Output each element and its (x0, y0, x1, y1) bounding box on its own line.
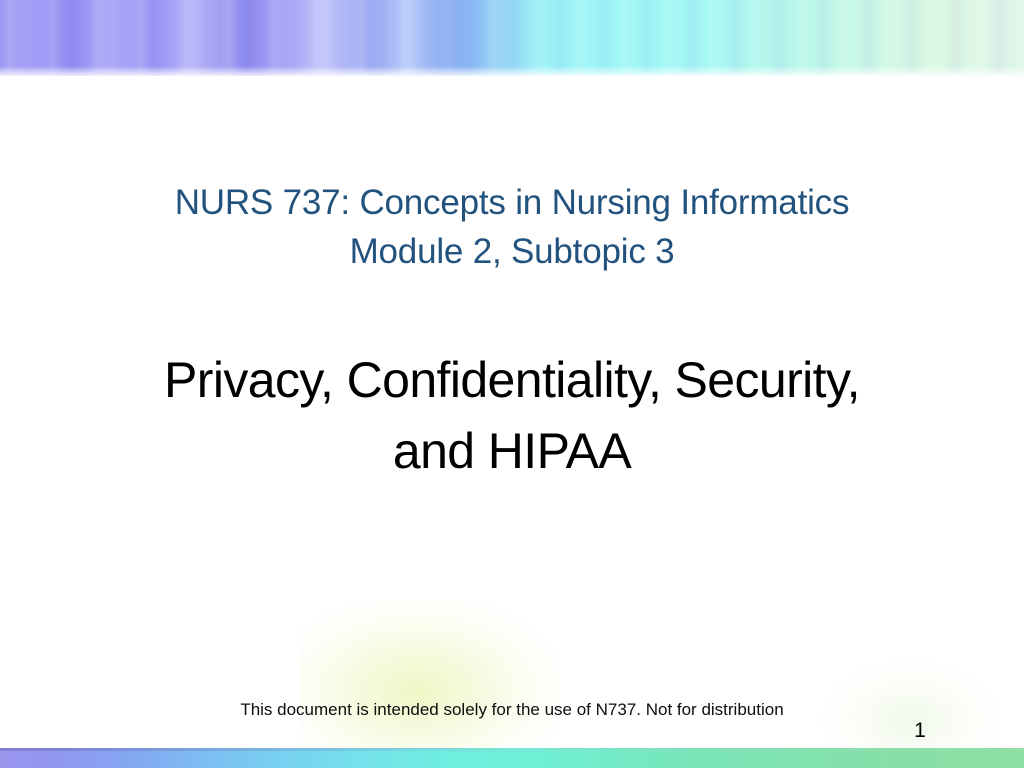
presentation-slide: NURS 737: Concepts in Nursing Informatic… (0, 0, 1024, 768)
course-subtitle-line-2: Module 2, Subtopic 3 (112, 227, 912, 276)
slide-main-title-line-1: Privacy, Confidentiality, Security, (72, 345, 952, 416)
top-decorative-banner (0, 0, 1024, 76)
banner-streak-texture (0, 0, 1024, 76)
distribution-notice: This document is intended solely for the… (112, 699, 912, 721)
background-color-wash (300, 600, 560, 765)
course-subtitle-line-1: NURS 737: Concepts in Nursing Informatic… (112, 178, 912, 227)
slide-main-title: Privacy, Confidentiality, Security, and … (72, 345, 952, 487)
course-subtitle: NURS 737: Concepts in Nursing Informatic… (112, 178, 912, 276)
bottom-bar-top-edge (0, 748, 1024, 751)
bottom-decorative-bar (0, 748, 1024, 768)
slide-number: 1 (900, 718, 940, 744)
banner-bottom-fade (0, 66, 1024, 76)
slide-main-title-line-2: and HIPAA (72, 416, 952, 487)
